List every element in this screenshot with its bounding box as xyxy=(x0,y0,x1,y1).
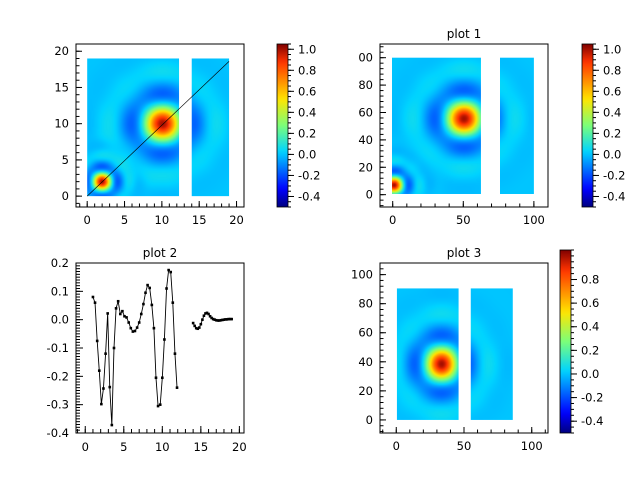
x-tick-label: 0 xyxy=(393,439,400,453)
colorbar-tick-label: -0.2 xyxy=(581,391,603,405)
data-point xyxy=(159,403,162,406)
y-tick-label: 20 xyxy=(54,44,69,58)
colorbar xyxy=(277,44,288,207)
y-tick-label: 0.0 xyxy=(51,313,69,327)
panel-bottom-left: plot 2051015200.20.10.0-0.1-0.2-0.3-0.4 xyxy=(0,235,330,480)
data-point xyxy=(102,387,105,390)
panel-bottom-right: plot 30501000204060801000.80.60.40.20.0-… xyxy=(320,235,640,480)
heatmap-patch-0 xyxy=(87,58,179,196)
colorbar-tick-label: -0.2 xyxy=(603,168,625,182)
data-point xyxy=(171,301,174,304)
x-tick-label: 100 xyxy=(521,439,543,453)
y-tick-label: 0 xyxy=(366,413,373,427)
data-point xyxy=(111,424,114,427)
colorbar-tick-label: 0.2 xyxy=(603,126,621,140)
panel-top-left: 05101520051015201.00.80.60.40.20.0-0.2-0… xyxy=(0,0,330,240)
image-layer xyxy=(392,58,534,194)
y-tick-label: 10 xyxy=(54,117,69,131)
x-tick-label: 20 xyxy=(229,213,244,227)
colorbar-tick-label: 0.8 xyxy=(298,63,316,77)
colorbar-tick-label: -0.4 xyxy=(298,189,320,203)
y-tick-label: 100 xyxy=(351,268,373,282)
data-point xyxy=(140,313,143,316)
plot-title: plot 2 xyxy=(143,246,177,260)
data-point xyxy=(129,327,132,330)
panel-top-right: plot 1050100020406080001.00.80.60.40.20.… xyxy=(320,0,640,240)
x-tick-label: 10 xyxy=(155,213,170,227)
x-tick-label: 100 xyxy=(523,213,545,227)
x-tick-label: 0 xyxy=(84,213,91,227)
data-point xyxy=(200,323,203,326)
data-layer xyxy=(92,269,233,427)
colorbar-tick-label: 0.6 xyxy=(603,84,621,98)
colorbar-tick-label: 0.2 xyxy=(298,126,316,140)
colorbar xyxy=(582,44,593,207)
x-tick-label: 5 xyxy=(120,440,127,454)
data-point xyxy=(108,386,111,389)
data-point xyxy=(134,330,137,333)
data-point xyxy=(113,347,116,350)
colorbar-tick-label: 0.6 xyxy=(298,84,316,98)
data-point xyxy=(203,314,206,317)
colorbar xyxy=(560,250,571,433)
data-point xyxy=(106,312,109,315)
y-tick-label: -0.3 xyxy=(47,398,69,412)
y-tick-label: 5 xyxy=(62,153,69,167)
colorbar-tick-label: 0.0 xyxy=(298,147,316,161)
heatmap-patch-0 xyxy=(397,288,459,419)
data-point xyxy=(98,369,101,372)
data-point xyxy=(161,376,164,379)
y-tick-label: 20 xyxy=(358,160,373,174)
y-tick-label: 80 xyxy=(358,78,373,92)
line-series-0 xyxy=(93,270,177,425)
data-point xyxy=(148,287,151,290)
data-point xyxy=(121,310,124,313)
data-point xyxy=(169,271,172,274)
data-point xyxy=(155,376,158,379)
data-point xyxy=(104,352,107,355)
figure-canvas: 05101520051015201.00.80.60.40.20.0-0.2-0… xyxy=(0,0,640,480)
axes-bottom-right[interactable]: plot 30501000204060801000.80.60.40.20.0-… xyxy=(320,235,640,480)
colorbar-tick-label: 0.6 xyxy=(581,296,599,310)
x-tick-label: 20 xyxy=(232,440,247,454)
data-point xyxy=(94,301,97,304)
heatmap-patch-0 xyxy=(392,58,481,194)
data-point xyxy=(127,321,130,324)
colorbar-tick-label: 0.4 xyxy=(581,320,599,334)
data-point xyxy=(201,318,204,321)
data-point xyxy=(100,403,103,406)
colorbar-tick-label: 0.4 xyxy=(298,105,316,119)
data-point xyxy=(138,321,141,324)
y-tick-label: 0.2 xyxy=(51,256,69,270)
x-tick-label: 0 xyxy=(389,213,396,227)
axes-frame xyxy=(76,263,244,433)
data-point xyxy=(144,291,147,294)
colorbar-tick-label: 0.0 xyxy=(603,147,621,161)
colorbar-tick-label: -0.4 xyxy=(581,414,603,428)
x-tick-label: 0 xyxy=(82,440,89,454)
y-tick-label: 0 xyxy=(62,189,69,203)
colorbar-tick-label: 0.4 xyxy=(603,105,621,119)
heatmap-patch-1 xyxy=(471,288,513,419)
plot-title: plot 1 xyxy=(447,27,481,41)
axes-top-left[interactable]: 05101520051015201.00.80.60.40.20.0-0.2-0… xyxy=(0,0,330,240)
y-tick-label: 0.1 xyxy=(51,284,69,298)
data-point xyxy=(165,287,168,290)
data-point xyxy=(146,284,149,287)
data-point xyxy=(142,303,145,306)
data-point xyxy=(151,304,154,307)
x-tick-label: 15 xyxy=(192,213,207,227)
x-tick-label: 50 xyxy=(457,439,472,453)
colorbar-tick-label: 0.0 xyxy=(581,367,599,381)
y-tick-label: -0.1 xyxy=(47,341,69,355)
axes-top-right[interactable]: plot 1050100020406080001.00.80.60.40.20.… xyxy=(320,0,640,240)
y-tick-label: 40 xyxy=(358,133,373,147)
data-point xyxy=(125,316,128,319)
data-point xyxy=(163,338,166,341)
y-tick-label: -0.4 xyxy=(47,426,69,440)
y-tick-label: 15 xyxy=(54,80,69,94)
data-point xyxy=(136,326,139,329)
data-point xyxy=(115,307,118,310)
colorbar-tick-label: 1.0 xyxy=(298,42,316,56)
y-tick-label: 60 xyxy=(358,105,373,119)
y-tick-label: 80 xyxy=(358,297,373,311)
y-tick-label: 40 xyxy=(358,355,373,369)
data-point xyxy=(192,322,195,325)
x-tick-label: 5 xyxy=(121,213,128,227)
plot-title: plot 3 xyxy=(447,246,481,260)
axes-bottom-left[interactable]: plot 2051015200.20.10.0-0.1-0.2-0.3-0.4 xyxy=(0,235,330,480)
image-layer xyxy=(397,288,513,419)
y-tick-label: -0.2 xyxy=(47,369,69,383)
colorbar-tick-label: -0.2 xyxy=(298,168,320,182)
colorbar-tick-label: 0.8 xyxy=(603,63,621,77)
x-tick-label: 50 xyxy=(456,213,471,227)
data-point xyxy=(207,313,210,316)
data-point xyxy=(117,300,120,303)
x-tick-label: 15 xyxy=(194,440,209,454)
y-tick-label: 0 xyxy=(366,188,373,202)
data-point xyxy=(119,313,122,316)
y-tick-label: 00 xyxy=(358,51,373,65)
colorbar-tick-label: 0.2 xyxy=(581,343,599,357)
y-tick-label: 20 xyxy=(358,384,373,398)
data-point xyxy=(92,296,95,299)
data-point xyxy=(230,318,233,321)
tick-group xyxy=(76,263,239,433)
colorbar-tick-label: 0.8 xyxy=(581,273,599,287)
image-layer xyxy=(87,58,229,196)
heatmap-patch-1 xyxy=(500,58,534,194)
data-point xyxy=(174,352,177,355)
data-point xyxy=(198,326,201,329)
colorbar-tick-label: -0.4 xyxy=(603,189,625,203)
data-point xyxy=(193,325,196,328)
x-tick-label: 10 xyxy=(155,440,170,454)
data-point xyxy=(176,386,179,389)
y-tick-label: 60 xyxy=(358,326,373,340)
data-point xyxy=(96,340,99,343)
colorbar-tick-label: 1.0 xyxy=(603,42,621,56)
data-point xyxy=(153,327,156,330)
